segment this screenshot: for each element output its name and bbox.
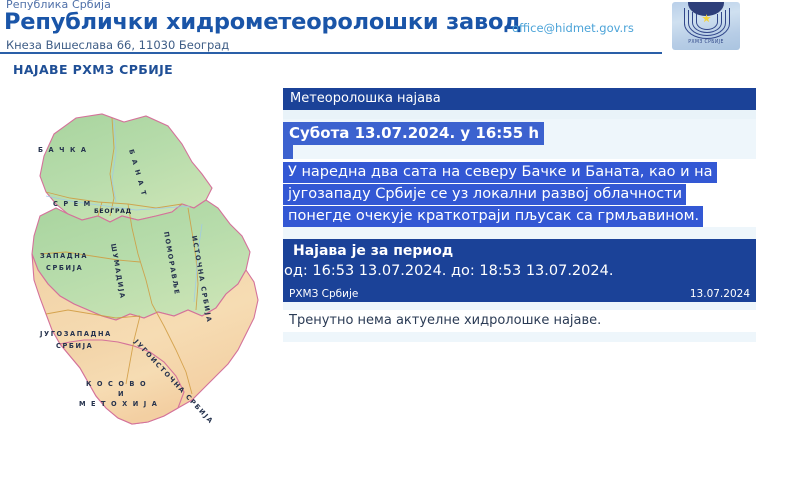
region-label-kosovo-2: И	[118, 390, 125, 398]
region-label-jugozapadna-2: СРБИЈА	[56, 342, 93, 350]
source-date: 13.07.2024	[690, 288, 750, 300]
address-line: Кнеза Вишеслава 66, 11030 Београд	[6, 38, 229, 52]
region-label-zapadna-1: ЗАПАДНА	[40, 252, 88, 260]
map-svg: ЗАПАДНА СРБИЈА Б А Ч К А Б А Н А Т С Р Е…	[6, 104, 272, 452]
announcement-date-stub	[283, 145, 293, 159]
header-divider	[0, 52, 662, 54]
period-title: Најава је за период	[283, 242, 756, 261]
city-label-beograd: БЕОГРАД	[94, 208, 132, 215]
source-name: РХМЗ Србије	[289, 288, 358, 300]
region-label-kosovo-3: М Е Т О Х И Ј А	[79, 400, 158, 408]
page-header: Република Србија Републички хидрометеоро…	[0, 0, 790, 52]
announcement-date: Субота 13.07.2024. у 16:55 h	[283, 122, 544, 145]
region-label-srem: С Р Е М	[53, 200, 92, 208]
serbia-region-map[interactable]: ЗАПАДНА СРБИЈА Б А Ч К А Б А Н А Т С Р Е…	[6, 104, 272, 452]
hydrology-section: Тренутно нема актуелне хидролошке најаве…	[283, 302, 756, 342]
hydrology-spacer	[283, 332, 756, 342]
announcement-header-bar: Метеоролошка најава	[283, 88, 756, 110]
source-bar: РХМЗ Србије 13.07.2024	[283, 285, 756, 302]
announcement-body-line: југозападу Србије се уз локални развој о…	[283, 184, 686, 205]
announcement-period-block: Најава је за период од: 16:53 13.07.2024…	[283, 239, 756, 285]
announcement-body-line: У наредна два сата на северу Бачке и Бан…	[283, 162, 717, 183]
region-label-kosovo-1: К О С О В О	[86, 380, 147, 388]
institute-title: Републички хидрометеоролошки завод	[4, 9, 521, 35]
email-link[interactable]: office@hidmet.gov.rs	[512, 21, 634, 35]
announcement-date-row: Субота 13.07.2024. у 16:55 h	[283, 119, 756, 159]
announcement-body: У наредна два сата на северу Бачке и Бан…	[283, 159, 756, 227]
period-range: од: 16:53 13.07.2024. до: 18:53 13.07.20…	[283, 261, 756, 281]
region-label-jugozapadna-1: ЈУГОЗАПАДНА	[39, 330, 112, 338]
panel-spacer-top	[283, 110, 756, 119]
announcement-body-line: понегде очекује краткотраји пљусак са гр…	[283, 206, 703, 227]
logo-ribbon-text: РХМЗ СРБИЈЕ	[683, 36, 729, 48]
panel-spacer-mid	[283, 227, 756, 239]
rhmz-logo-icon: РХМЗ СРБИЈЕ	[672, 2, 740, 50]
region-label-zapadna-2: СРБИЈА	[46, 264, 83, 272]
announcement-panel: Метеоролошка најава Субота 13.07.2024. у…	[283, 88, 756, 342]
hydrology-message: Тренутно нема актуелне хидролошке најаве…	[283, 310, 756, 332]
page-title: НАЈАВЕ РХМЗ СРБИЈЕ	[13, 62, 173, 77]
region-label-backa: Б А Ч К А	[38, 146, 88, 154]
